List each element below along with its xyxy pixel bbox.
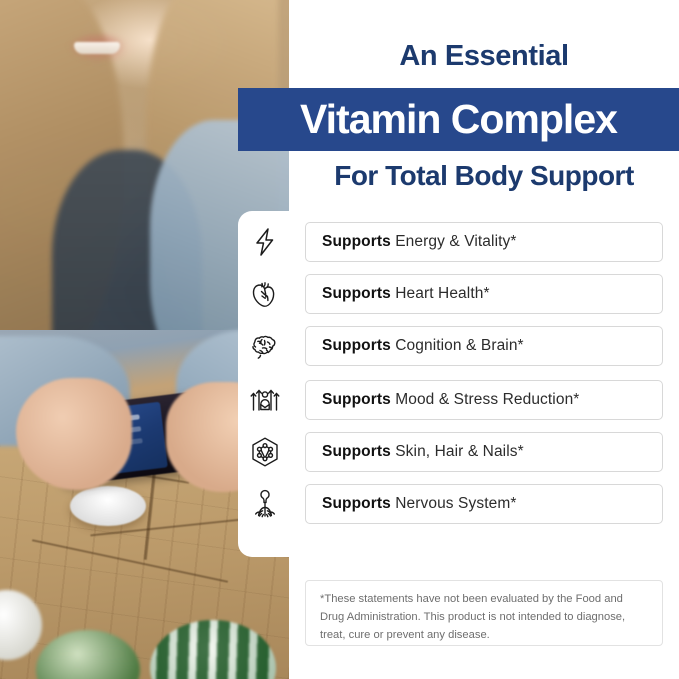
molecule-hexagon-icon xyxy=(248,435,282,469)
benefit-label: Heart Health* xyxy=(391,285,490,302)
benefit-prefix: Supports xyxy=(322,233,391,250)
benefit-text: Supports Cognition & Brain* xyxy=(322,337,524,355)
fda-disclaimer-text: *These statements have not been evaluate… xyxy=(320,590,648,644)
benefit-row-nervous-system: Supports Nervous System* xyxy=(289,484,679,524)
benefit-text: Supports Energy & Vitality* xyxy=(322,233,517,251)
headline-kicker: An Essential xyxy=(289,40,679,73)
benefit-label: Mood & Stress Reduction* xyxy=(391,391,580,408)
headline-banner-title: Vitamin Complex xyxy=(300,96,617,143)
fda-disclaimer-box: *These statements have not been evaluate… xyxy=(305,580,663,646)
brain-icon xyxy=(248,329,282,363)
headline-banner: Vitamin Complex xyxy=(238,88,679,151)
benefit-row-energy: Supports Energy & Vitality* xyxy=(289,222,679,262)
smile-teeth xyxy=(74,42,120,54)
benefit-box: Supports Mood & Stress Reduction* xyxy=(305,380,663,420)
nervous-system-icon xyxy=(248,487,282,521)
benefit-box: Supports Heart Health* xyxy=(305,274,663,314)
benefit-box: Supports Cognition & Brain* xyxy=(305,326,663,366)
benefit-box: Supports Nervous System* xyxy=(305,484,663,524)
benefit-text: Supports Nervous System* xyxy=(322,495,516,513)
benefit-label: Nervous System* xyxy=(391,495,517,512)
benefit-label: Energy & Vitality* xyxy=(391,233,517,250)
benefits-list: Supports Energy & Vitality* Supports Hea… xyxy=(289,222,679,536)
benefit-prefix: Supports xyxy=(322,285,391,302)
benefit-box: Supports Skin, Hair & Nails* xyxy=(305,432,663,472)
heart-icon xyxy=(248,277,282,311)
benefit-box: Supports Energy & Vitality* xyxy=(305,222,663,262)
benefit-label: Cognition & Brain* xyxy=(391,337,524,354)
benefit-prefix: Supports xyxy=(322,495,391,512)
hand-left xyxy=(16,378,132,490)
benefit-row-mood: Supports Mood & Stress Reduction* xyxy=(289,380,679,420)
benefit-label: Skin, Hair & Nails* xyxy=(391,443,524,460)
bottle-cap-on-table xyxy=(70,486,146,526)
mood-person-arrows-icon xyxy=(248,383,282,417)
benefit-text: Supports Mood & Stress Reduction* xyxy=(322,391,579,409)
wood-grain-line xyxy=(32,539,228,583)
benefit-text: Supports Heart Health* xyxy=(322,285,490,303)
benefit-text: Supports Skin, Hair & Nails* xyxy=(322,443,524,461)
headline-subkicker: For Total Body Support xyxy=(289,160,679,192)
infographic-canvas: An Essential Vitamin Complex For Total B… xyxy=(0,0,679,679)
lightning-bolt-icon xyxy=(248,225,282,259)
benefit-prefix: Supports xyxy=(322,443,391,460)
benefit-row-skin-hair-nails: Supports Skin, Hair & Nails* xyxy=(289,432,679,472)
content-panel: An Essential Vitamin Complex For Total B… xyxy=(289,0,679,679)
benefit-prefix: Supports xyxy=(322,391,391,408)
benefit-row-cognition: Supports Cognition & Brain* xyxy=(289,326,679,366)
benefit-row-heart: Supports Heart Health* xyxy=(289,274,679,314)
benefit-prefix: Supports xyxy=(322,337,391,354)
